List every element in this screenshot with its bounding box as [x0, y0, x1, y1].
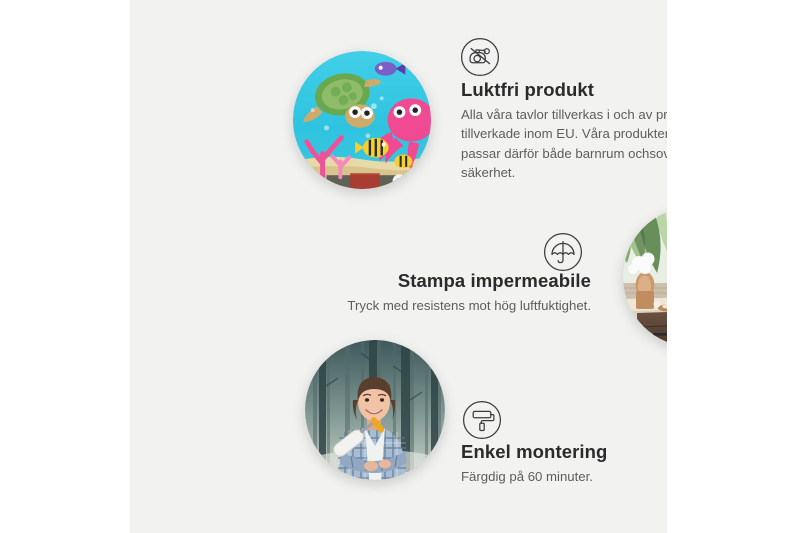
feature-title: Luktfri produkt: [461, 78, 667, 102]
umbrella-icon: [543, 232, 583, 272]
paint-roller-icon: [462, 400, 502, 440]
content-panel: Luktfri produkt Alla våra tavlor tillver…: [130, 0, 667, 533]
woman-with-paint-roller-forest-photo: [305, 340, 445, 480]
bathroom-tropical-wallpaper-photo: [623, 207, 667, 347]
feature-body: Färgdig på 60 minuter.: [461, 467, 667, 486]
promo-graphic: Luktfri produkt Alla våra tavlor tillver…: [0, 0, 800, 533]
feature-title: Stampa impermeabile: [323, 269, 591, 293]
feature-body: Tryck med resistens mot hög luftfuktighe…: [323, 296, 591, 315]
feature-body: Alla våra tavlor tillverkas i och av pro…: [461, 105, 667, 183]
underwater-cartoon-turtle-octopus-photo: [293, 51, 431, 189]
no-spray-bottle-icon: [460, 37, 500, 77]
feature-title: Enkel montering: [461, 440, 667, 464]
